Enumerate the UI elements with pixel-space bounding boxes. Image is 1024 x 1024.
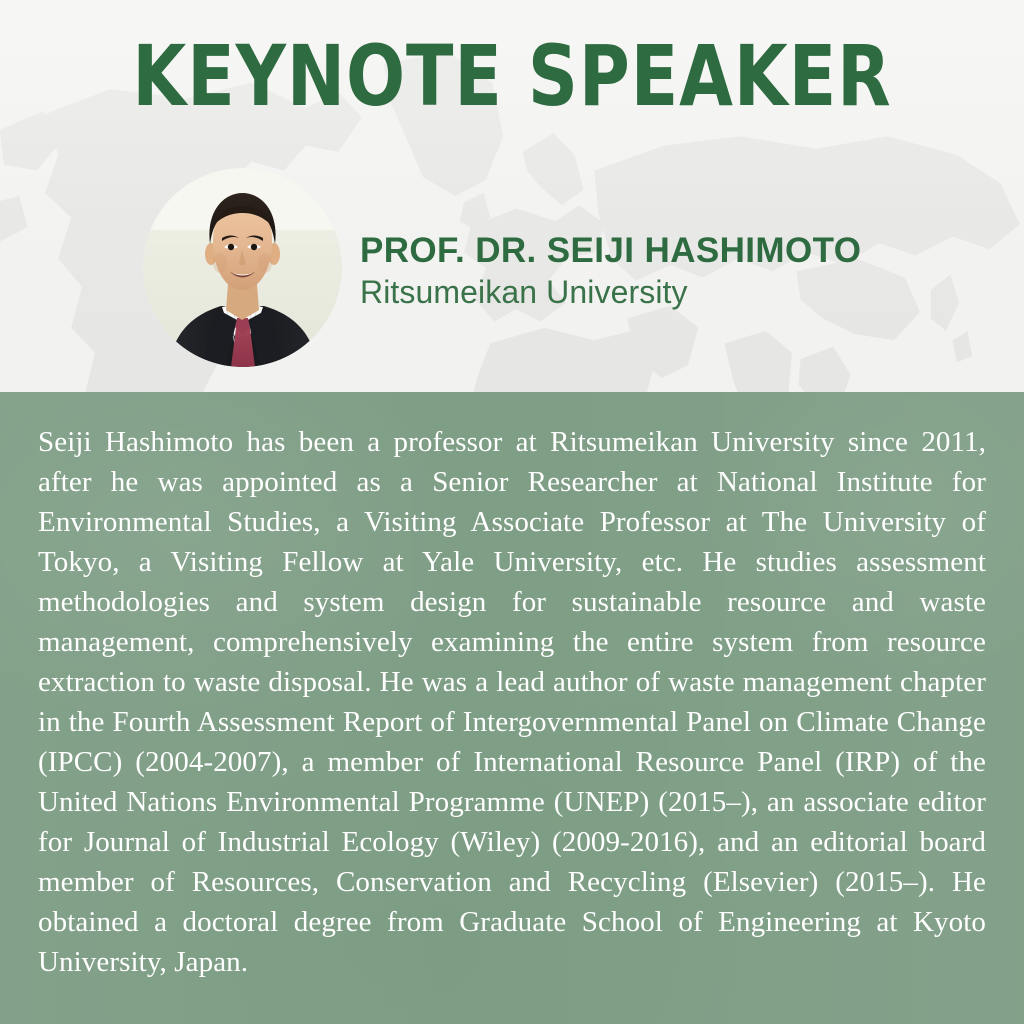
header-section: KEYNOTE SPEAKER	[0, 0, 1024, 392]
avatar	[143, 168, 342, 367]
bio-section: Seiji Hashimoto has been a professor at …	[0, 392, 1024, 1024]
page-title: KEYNOTE SPEAKER	[41, 34, 983, 118]
bio-paragraph: Seiji Hashimoto has been a professor at …	[38, 422, 986, 982]
bio-text: Seiji Hashimoto has been a professor at …	[38, 422, 986, 982]
speaker-portrait-icon	[143, 168, 342, 367]
speaker-text-block: PROF. DR. SEIJI HASHIMOTO Ritsumeikan Un…	[360, 230, 861, 312]
speaker-row: PROF. DR. SEIJI HASHIMOTO Ritsumeikan Un…	[0, 168, 1024, 388]
speaker-name: PROF. DR. SEIJI HASHIMOTO	[360, 230, 861, 272]
speaker-affiliation: Ritsumeikan University	[360, 272, 861, 312]
keynote-speaker-poster: KEYNOTE SPEAKER	[0, 0, 1024, 1024]
